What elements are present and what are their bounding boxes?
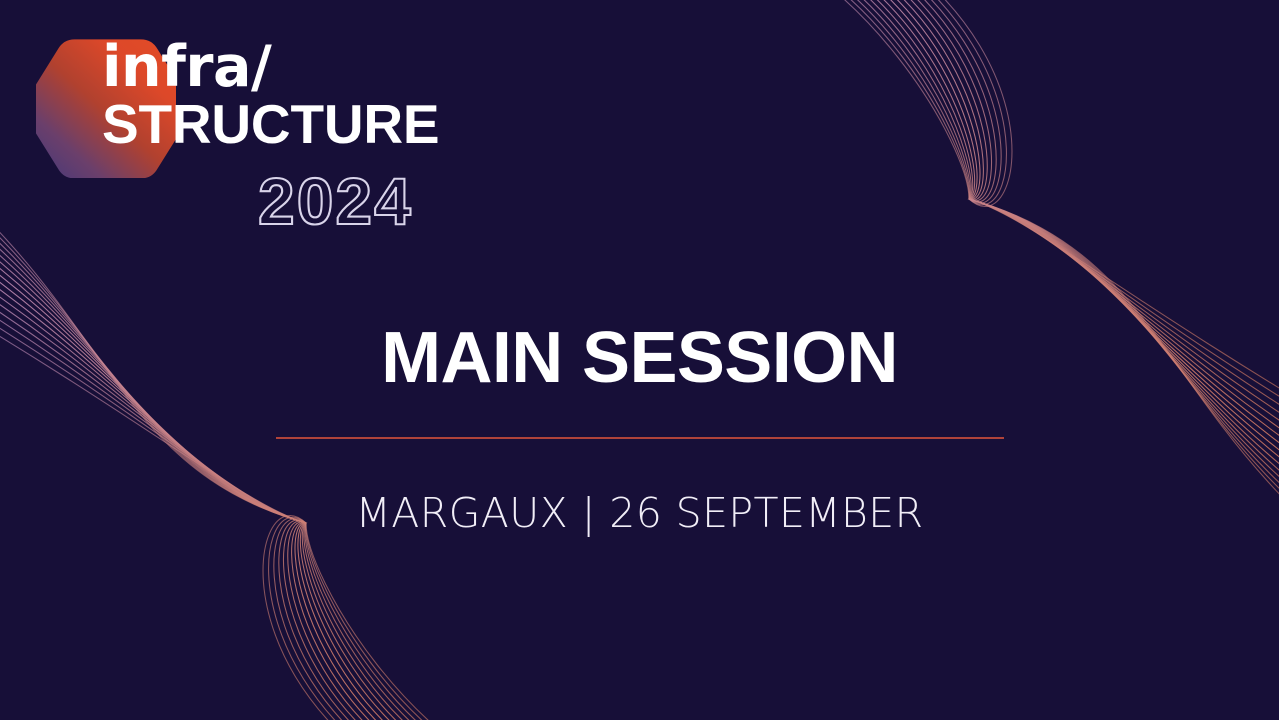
presentation-slide: infra/ STRUCTURE 2024 MAIN SESSION MARGA…: [0, 0, 1279, 720]
session-title: MAIN SESSION: [0, 322, 1279, 394]
session-subtitle: MARGAUX | 26 SEPTEMBER: [0, 493, 1279, 534]
session-info-block: MAIN SESSION MARGAUX | 26 SEPTEMBER: [0, 0, 1279, 720]
title-divider: [276, 437, 1004, 439]
